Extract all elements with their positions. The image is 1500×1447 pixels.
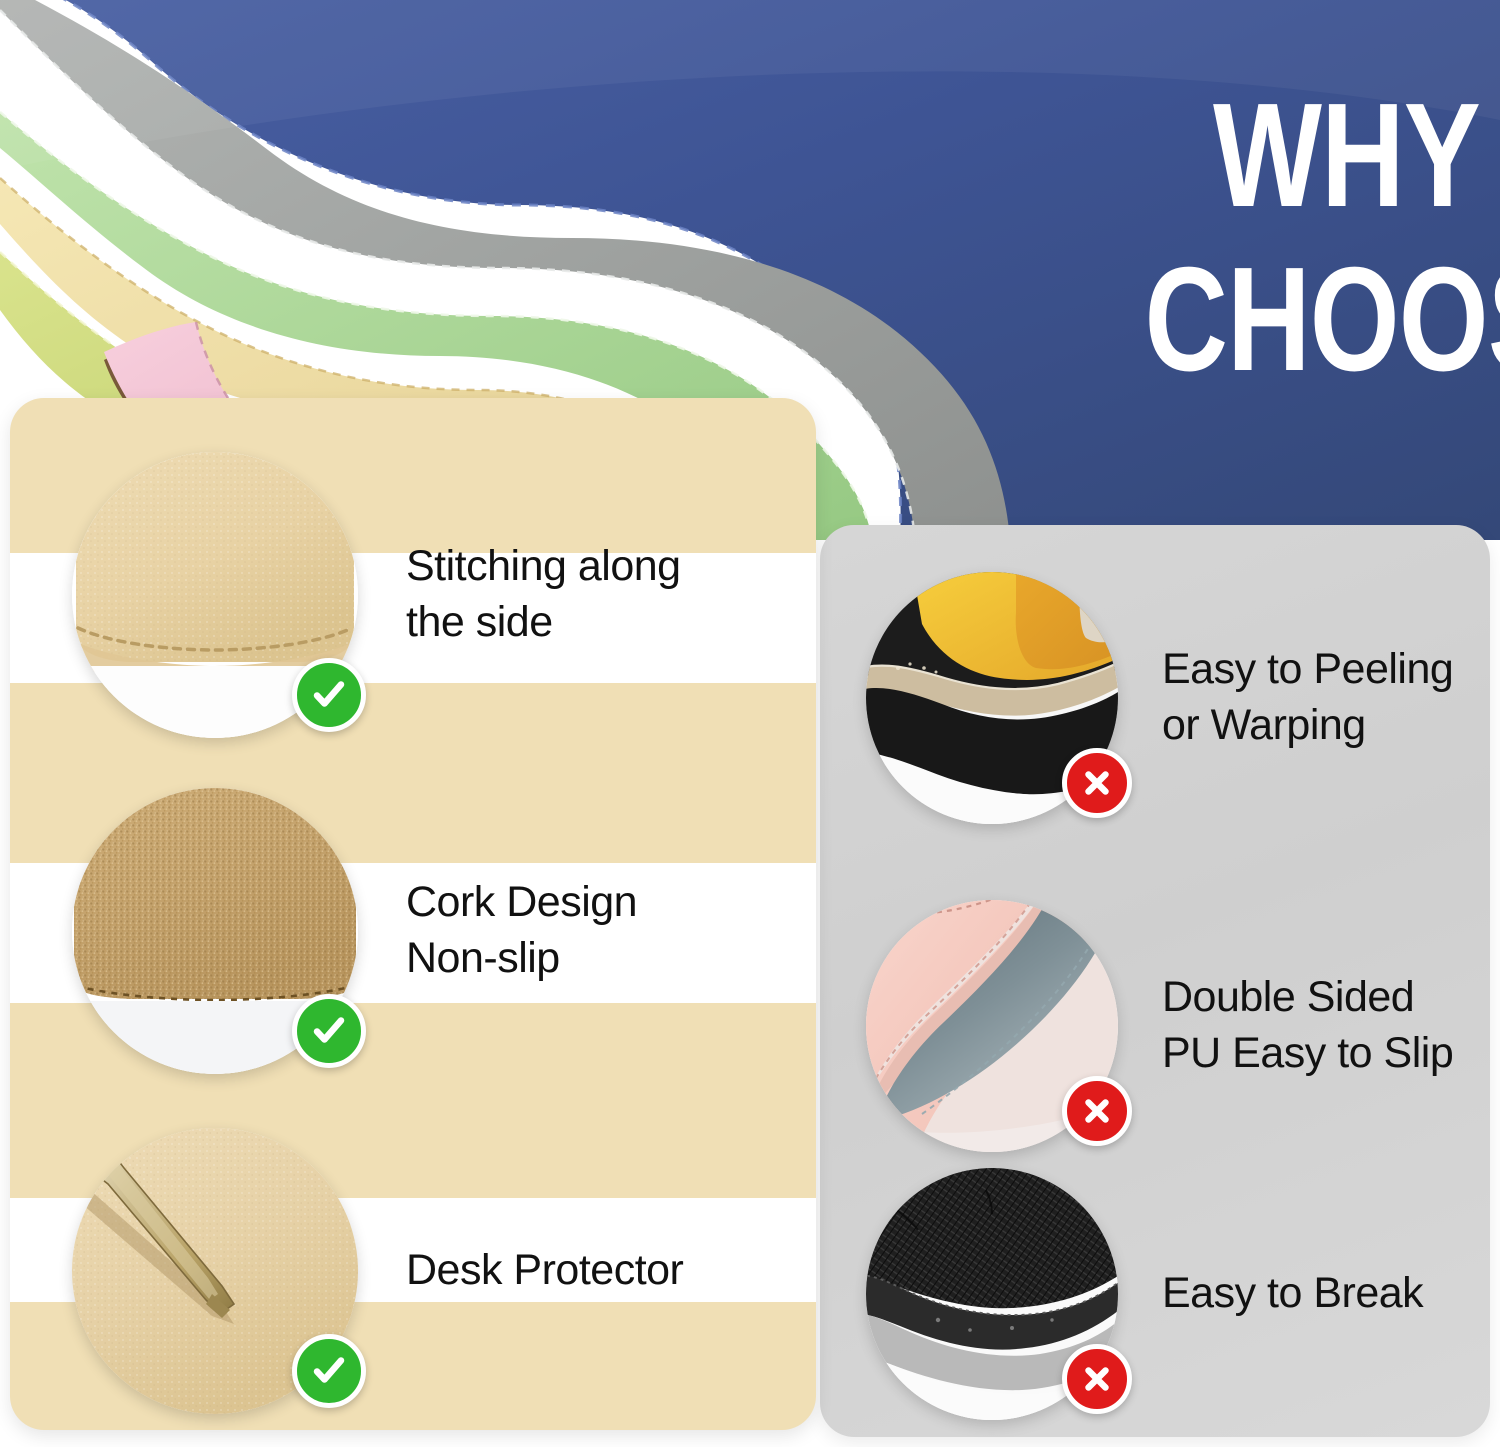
pros-item-stitching: Stitching along the side [72,452,681,738]
cons-item-peeling: Easy to Peeling or Warping [866,572,1453,824]
check-icon [292,994,366,1068]
cons-item-double-sided: Double Sided PU Easy to Slip [866,900,1453,1152]
thumb-wrapper [866,572,1118,824]
cross-icon [1062,1344,1132,1414]
cross-icon [1062,1076,1132,1146]
thumb-wrapper [72,1128,358,1414]
cons-item-label: Easy to Break [1162,1266,1423,1322]
thumb-wrapper [866,900,1118,1152]
cons-item-break: Easy to Break [866,1168,1423,1420]
marketing-infographic: WHY CHOOSE US [0,0,1500,1447]
cross-glyph [1079,1093,1115,1129]
check-icon [292,1334,366,1408]
cons-item-label: Easy to Peeling or Warping [1162,642,1453,754]
thumb-wrapper [866,1168,1118,1420]
cons-item-label: Double Sided PU Easy to Slip [1162,970,1453,1082]
pros-item-label: Stitching along the side [406,539,681,651]
pros-item-desk-protector: Desk Protector [72,1128,683,1414]
pros-item-cork: Cork Design Non-slip [72,788,637,1074]
thumb-wrapper [72,452,358,738]
thumb-wrapper [72,788,358,1074]
check-glyph [309,675,349,715]
cross-glyph [1079,1361,1115,1397]
cross-icon [1062,748,1132,818]
cross-glyph [1079,765,1115,801]
pros-item-label: Desk Protector [406,1243,683,1299]
check-icon [292,658,366,732]
check-glyph [309,1351,349,1391]
pros-item-label: Cork Design Non-slip [406,875,637,987]
check-glyph [309,1011,349,1051]
